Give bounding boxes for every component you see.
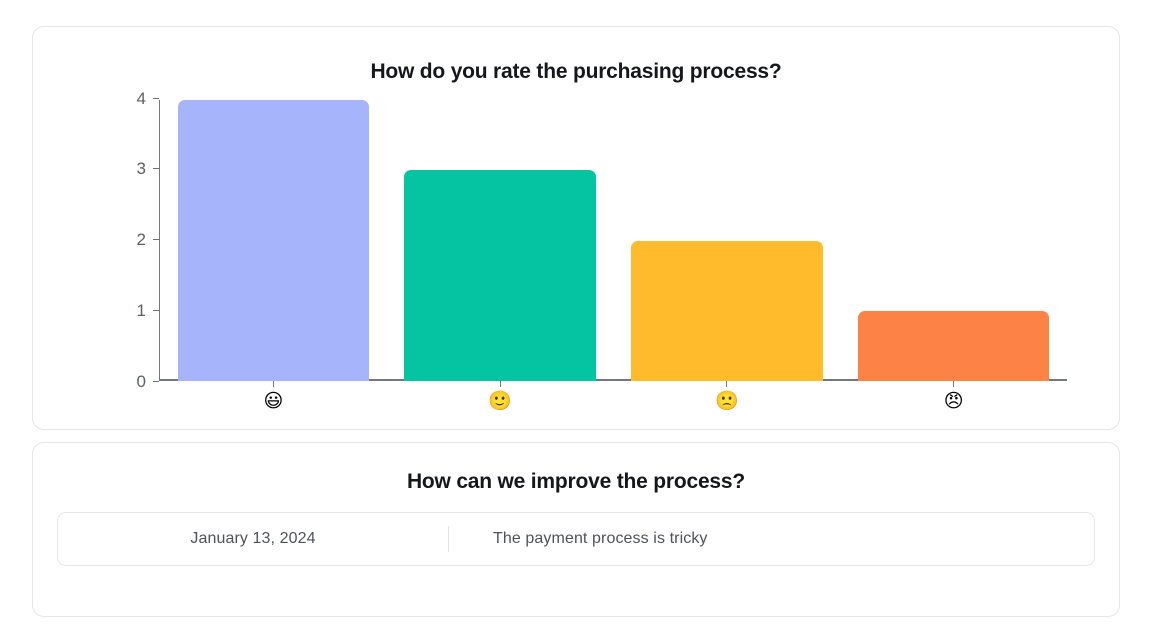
y-axis-tick-label: 2 [137,231,153,248]
bar-slightly-smiling-face[interactable] [404,170,596,381]
y-axis-tick-mark [153,98,159,99]
x-axis-tick-mark [726,381,727,387]
responses-title: How can we improve the process? [57,469,1095,494]
bar-chart: 01234 😃🙂🙁😠 [57,98,1095,419]
bar-slot [387,100,614,381]
grinning-face-icon: 😃 [263,392,283,411]
plot-area [160,100,1067,381]
angry-face-icon: 😠 [944,392,964,411]
survey-results-page: How do you rate the purchasing process? … [0,0,1152,635]
response-date: January 13, 2024 [58,530,448,548]
response-row[interactable]: January 13, 2024The payment process is t… [57,512,1095,566]
x-axis-category: 😃 [160,381,387,419]
bar-grinning-face[interactable] [178,100,370,381]
bar-slot [160,100,387,381]
y-axis: 01234 [113,98,159,381]
x-axis-tick-mark [953,381,954,387]
bar-angry-face[interactable] [858,311,1050,381]
x-axis-category: 🙂 [387,381,614,419]
response-list: January 13, 2024The payment process is t… [57,512,1095,566]
bar-slot [840,100,1067,381]
x-axis-labels: 😃🙂🙁😠 [160,381,1067,419]
y-axis-tick-label: 3 [137,160,153,177]
x-axis-tick-mark [500,381,501,387]
x-axis-category: 😠 [840,381,1067,419]
y-axis-tick-label: 0 [137,373,153,390]
bar-slightly-frowning-face[interactable] [631,241,823,381]
responses-card: How can we improve the process? January … [32,442,1120,617]
bar-slot [614,100,841,381]
response-text: The payment process is tricky [449,530,1094,548]
rating-chart-card: How do you rate the purchasing process? … [32,26,1120,430]
y-axis-tick-label: 1 [137,302,153,319]
y-axis-tick-label: 4 [137,90,153,107]
x-axis-tick-mark [273,381,274,387]
bar-group [160,100,1067,381]
chart-title: How do you rate the purchasing process? [57,59,1095,84]
x-axis-category: 🙁 [614,381,841,419]
slightly-frowning-face-icon: 🙁 [715,392,739,411]
slightly-smiling-face-icon: 🙂 [488,392,512,411]
